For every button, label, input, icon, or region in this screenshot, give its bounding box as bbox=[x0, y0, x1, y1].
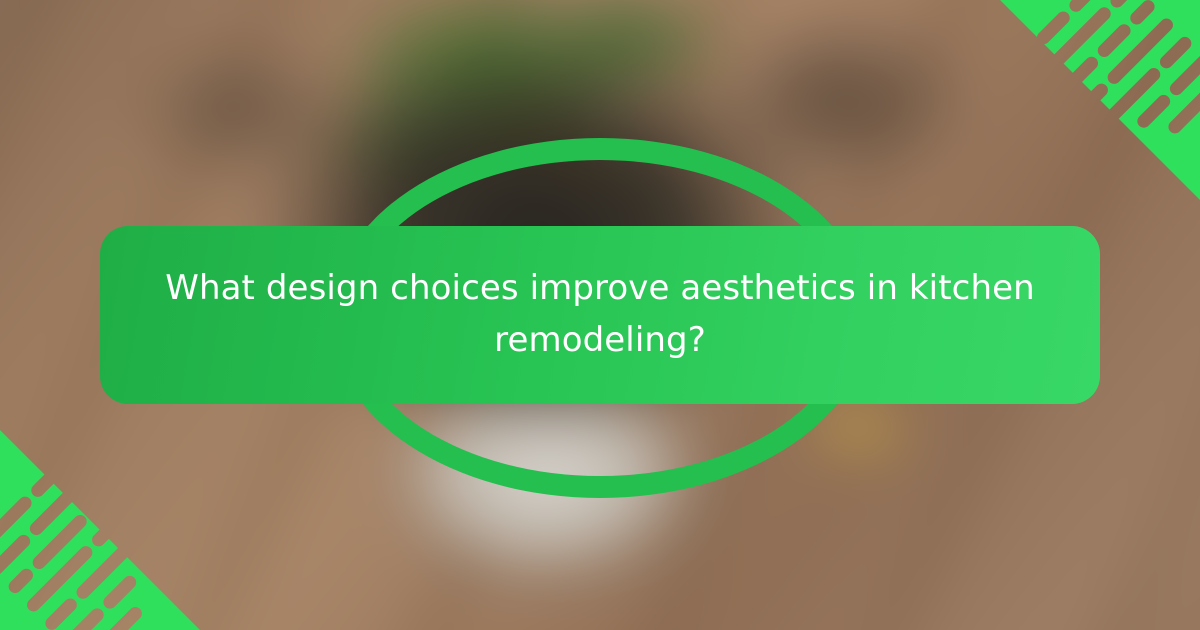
question-panel: What design choices improve aesthetics i… bbox=[100, 226, 1100, 404]
social-card: What design choices improve aesthetics i… bbox=[0, 0, 1200, 630]
question-text: What design choices improve aesthetics i… bbox=[146, 263, 1054, 366]
